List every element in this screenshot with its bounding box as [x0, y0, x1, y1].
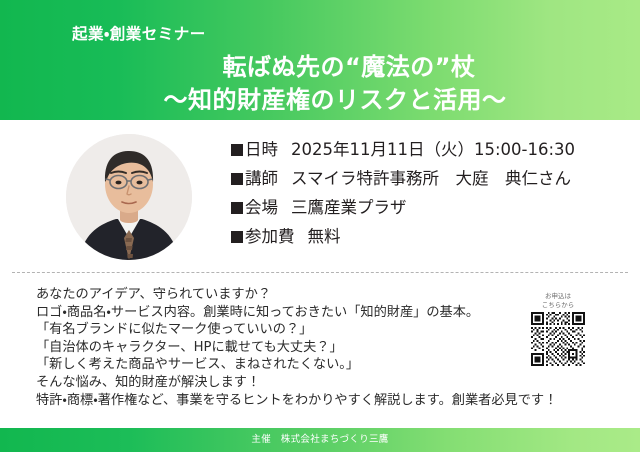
square-bullet-icon [231, 173, 243, 185]
event-details: 日時 2025年11月11日（火）15:00-16:30 講師 スマイラ特許事務… [231, 136, 631, 247]
detail-value: 無料 [308, 223, 341, 247]
description-line: 「自治体のキャラクター、HPに載せても大丈夫？」 [36, 339, 526, 357]
speaker-photo [66, 134, 192, 260]
detail-label: 講師 [245, 165, 278, 189]
seminar-title-line2: 〜知的財産権のリスクと活用〜 [0, 80, 640, 115]
detail-row: 会場 三鷹産業プラザ [231, 194, 631, 218]
description-line: そんな悩み、知的財産が解決します！ [36, 374, 526, 392]
header-banner: 起業・創業セミナー 転ばぬ先の“魔法の”杖 〜知的財産権のリスクと活用〜 [0, 0, 640, 120]
description-block: あなたのアイデア、守られていますか？ ロゴ・商品名・サービス内容。創業時に知って… [36, 286, 526, 409]
detail-label: 参加費 [245, 223, 295, 247]
detail-row: 参加費 無料 [231, 223, 631, 247]
description-line: 特許・商標・著作権など、事業を守るヒントをわかりやすく解説します。創業者必見です… [36, 392, 526, 410]
footer-bar: 主催 株式会社まちづくり三鷹 [0, 428, 640, 452]
organizer-text: 主催 株式会社まちづくり三鷹 [0, 428, 640, 452]
square-bullet-icon [231, 231, 243, 243]
section-divider [12, 272, 628, 273]
detail-value: 三鷹産業プラザ [291, 194, 407, 218]
description-line: 「有名ブランドに似たマーク使っていいの？」 [36, 321, 526, 339]
detail-label: 日時 [245, 136, 278, 160]
qr-label-line1: お申込は [528, 292, 588, 301]
description-line: 「新しく考えた商品やサービス、まねされたくない。」 [36, 356, 526, 374]
description-line: あなたのアイデア、守られていますか？ [36, 286, 526, 304]
detail-row: 日時 2025年11月11日（火）15:00-16:30 [231, 136, 631, 160]
description-line: ロゴ・商品名・サービス内容。創業時に知っておきたい「知的財産」の基本。 [36, 304, 526, 322]
qr-code-icon[interactable] [531, 312, 585, 366]
square-bullet-icon [231, 202, 243, 214]
application-qr-block[interactable]: お申込は こちらから [528, 292, 588, 366]
square-bullet-icon [231, 144, 243, 156]
seminar-title-line1: 転ばぬ先の“魔法の”杖 [0, 47, 640, 82]
detail-value: 2025年11月11日（火）15:00-16:30 [291, 136, 575, 160]
detail-label: 会場 [245, 194, 278, 218]
seminar-kicker: 起業・創業セミナー [72, 22, 206, 44]
detail-row: 講師 スマイラ特許事務所 大庭 典仁さん [231, 165, 631, 189]
qr-label-line2: こちらから [528, 301, 588, 310]
detail-value: スマイラ特許事務所 大庭 典仁さん [291, 165, 571, 189]
